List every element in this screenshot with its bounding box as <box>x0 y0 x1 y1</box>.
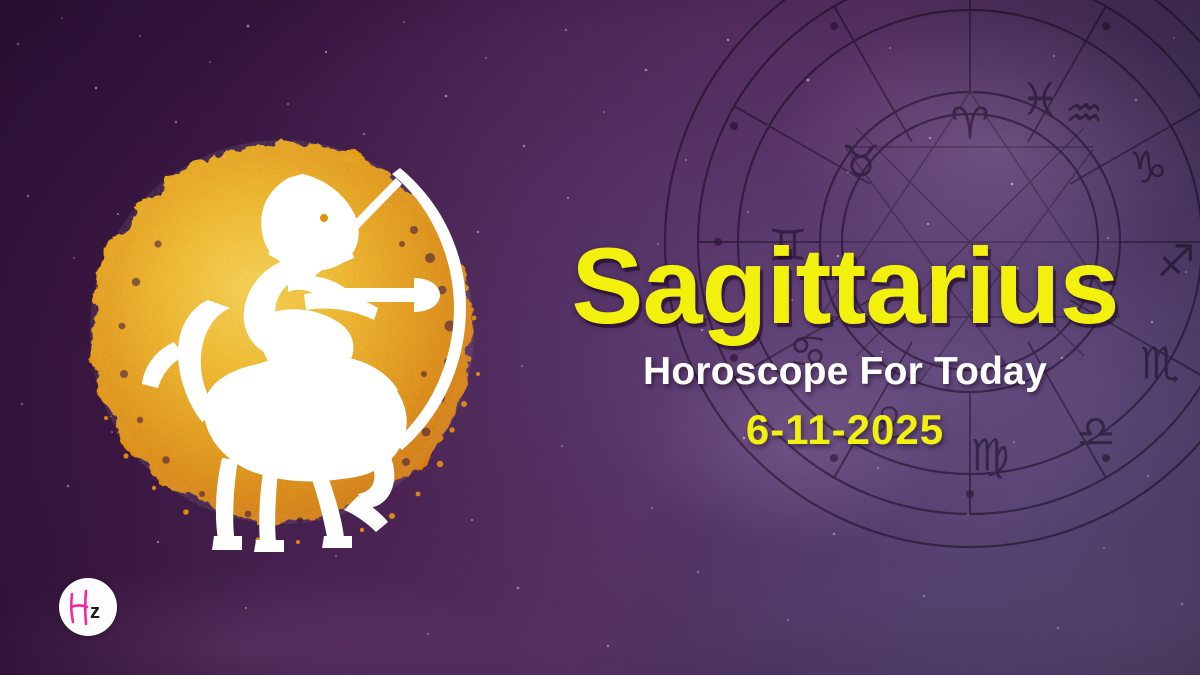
page-subtitle: Horoscope For Today <box>510 352 1180 393</box>
horoscope-logo[interactable]: z <box>59 578 117 636</box>
sagittarius-emblem <box>62 112 502 552</box>
horoscope-banner: ♈ ♉ ♊ ♋ ♌ ♍ ♎ ♏ ♐ ♑ ♒ ♓ <box>0 0 1200 675</box>
logo-letter-z: z <box>90 601 100 623</box>
hz-logo-mark: z <box>66 587 110 627</box>
horoscope-date: 6-11-2025 <box>510 408 1180 452</box>
headline-block: Sagittarius Horoscope For Today 6-11-202… <box>510 232 1180 452</box>
page-title: Sagittarius <box>510 232 1180 340</box>
